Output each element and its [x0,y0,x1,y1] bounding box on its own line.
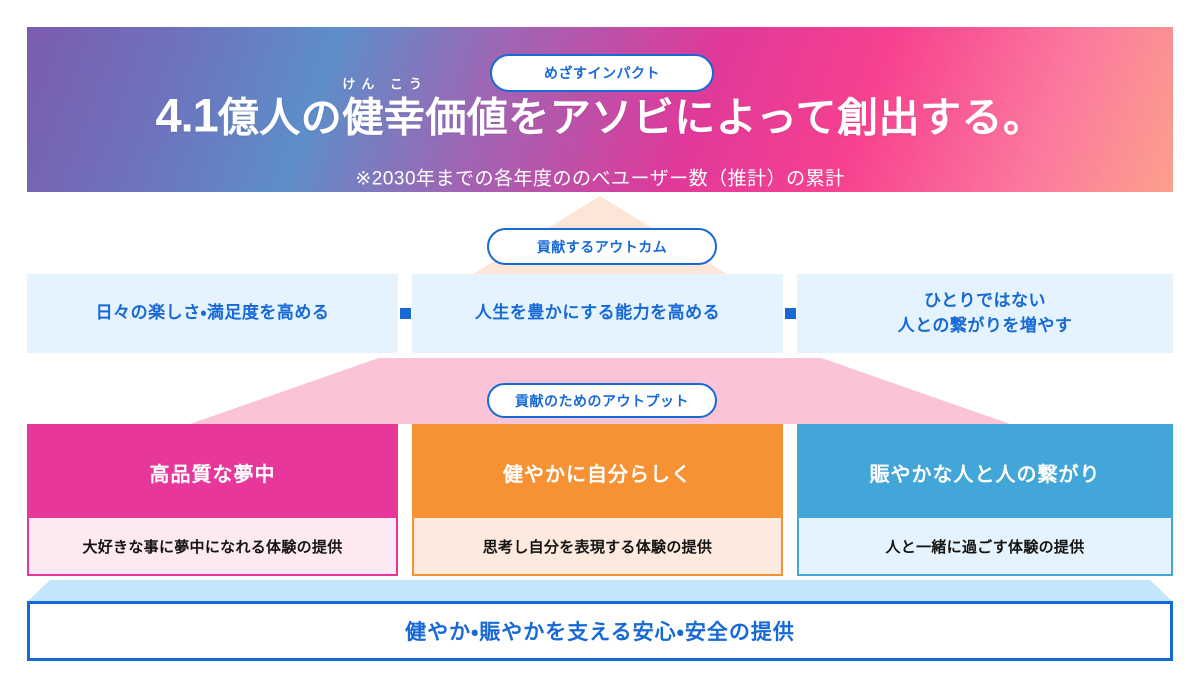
output-card-2-heading: 健やかに自分らしく [414,426,781,518]
badge-mezasu-impact[interactable]: めざすインパクト [490,54,714,92]
impact-title-ruby-base: 健幸 [342,95,425,141]
output-separator-2 [783,424,797,576]
square-marker-icon [400,308,411,319]
output-card-1-description: 大好きな事に夢中になれる体験の提供 [29,518,396,574]
impact-hero-inner: 4.1億人のけん こう健幸価値をアソビによって創出する。 ※2030年までの各年… [27,27,1173,192]
impact-subtitle: ※2030年までの各年度ののべユーザー数（推計）の累計 [27,164,1173,191]
outcome-card-3[interactable]: ひとりではない 人との繋がりを増やす [797,274,1173,353]
output-card-1[interactable]: 高品質な夢中 大好きな事に夢中になれる体験の提供 [27,424,398,576]
impact-title-furigana: けん こう [342,78,425,91]
impact-title-pre-ruby: 億人の [218,95,343,141]
foundation-slab-top [27,580,1173,602]
output-card-3[interactable]: 賑やかな人と人の繋がり 人と一緒に過ごす体験の提供 [797,424,1173,576]
outcome-separator-2 [783,274,797,353]
badge-contributing-outcome[interactable]: 貢献するアウトカム [487,228,717,265]
outcome-separator-1 [398,274,412,353]
output-card-1-heading: 高品質な夢中 [29,426,396,518]
outcome-card-3-label: ひとりではない 人との繋がりを増やす [898,289,1073,338]
foundation-bar[interactable]: 健やか・賑やかを支える安心・安全の提供 [27,601,1173,661]
outcome-card-3-line1: ひとりではない [924,291,1046,310]
impact-title-ruby-group: けん こう健幸 [342,98,425,139]
badge-output-for-contribution[interactable]: 貢献のためのアウトプット [487,383,717,418]
output-card-3-heading: 賑やかな人と人の繋がり [799,426,1171,518]
impact-hero-banner: 4.1億人のけん こう健幸価値をアソビによって創出する。 ※2030年までの各年… [27,27,1173,192]
outcome-card-3-line2: 人との繋がりを増やす [898,316,1073,335]
impact-title-post-ruby: 価値をアソビによって創出する。 [425,95,1044,141]
impact-framework-diagram: 4.1億人のけん こう健幸価値をアソビによって創出する。 ※2030年までの各年… [0,0,1200,690]
output-card-row: 高品質な夢中 大好きな事に夢中になれる体験の提供 健やかに自分らしく 思考し自分… [27,424,1173,576]
impact-title: 4.1億人のけん こう健幸価値をアソビによって創出する。 [27,92,1173,139]
foundation-label: 健やか・賑やかを支える安心・安全の提供 [405,616,795,646]
outcome-card-1[interactable]: 日々の楽しさ・満足度を高める [27,274,398,353]
impact-title-number: 4.1 [155,89,217,142]
outcome-card-2-label: 人生を豊かにする能力を高める [475,301,720,326]
outcome-card-1-label: 日々の楽しさ・満足度を高める [96,301,330,326]
output-card-3-description: 人と一緒に過ごす体験の提供 [799,518,1171,574]
output-card-2[interactable]: 健やかに自分らしく 思考し自分を表現する体験の提供 [412,424,783,576]
output-card-2-description: 思考し自分を表現する体験の提供 [414,518,781,574]
output-separator-1 [398,424,412,576]
outcome-card-row: 日々の楽しさ・満足度を高める 人生を豊かにする能力を高める ひとりではない 人と… [27,274,1173,353]
outcome-card-2[interactable]: 人生を豊かにする能力を高める [412,274,783,353]
square-marker-icon [785,308,796,319]
